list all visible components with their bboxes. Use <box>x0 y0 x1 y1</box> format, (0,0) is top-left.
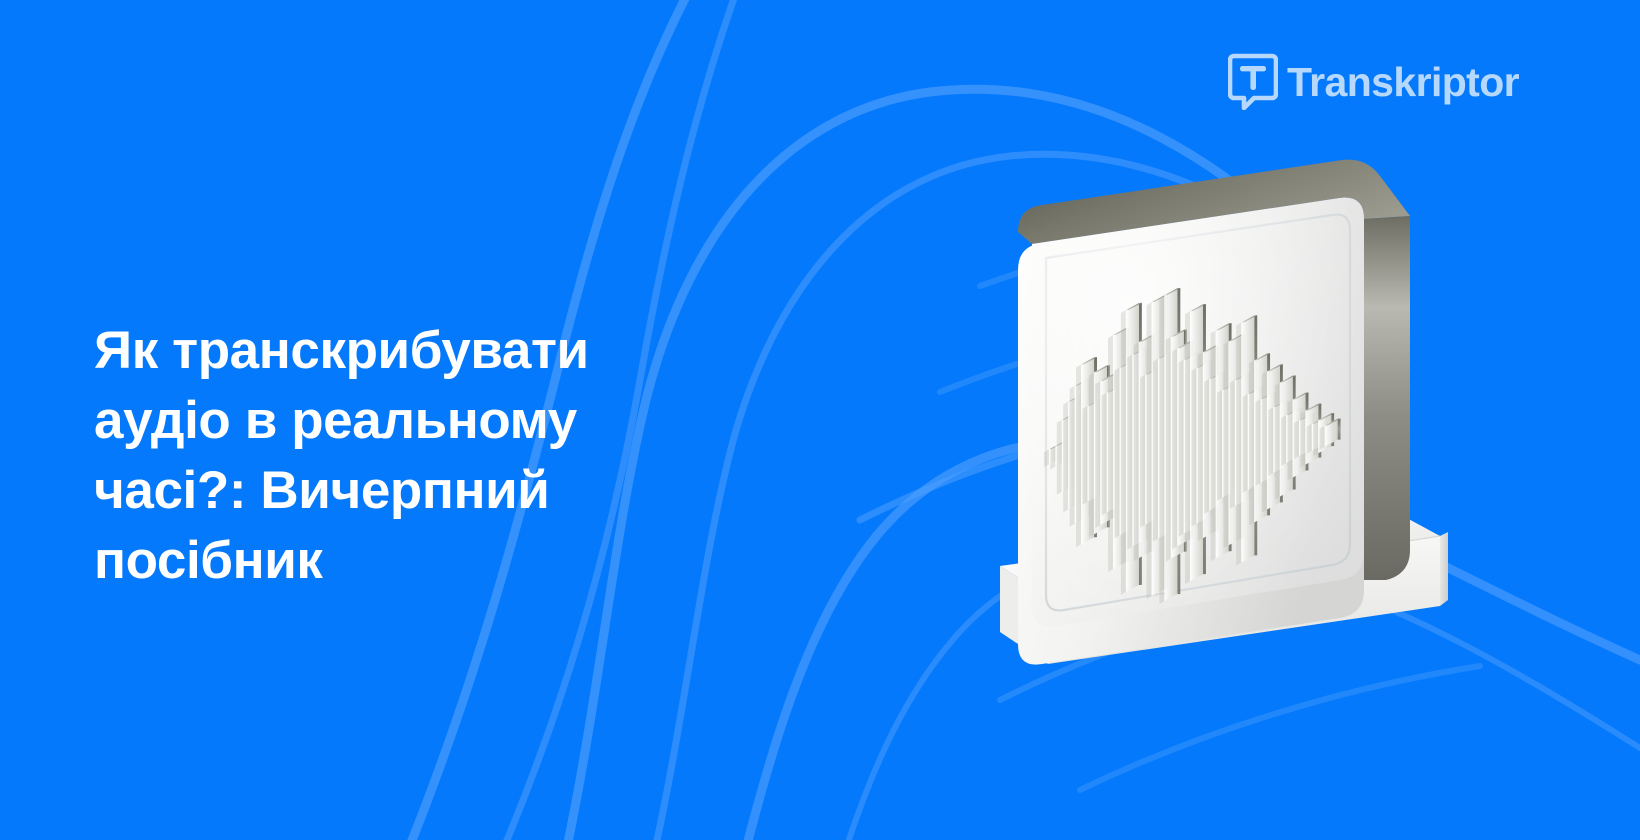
plaque <box>1018 160 1410 665</box>
transkriptor-logo[interactable]: Transkriptor <box>1228 52 1519 110</box>
banner-root: Transkriptor Як транскрибуватиаудіо в ре… <box>0 0 1640 840</box>
audio-waveform-illustration <box>940 140 1500 700</box>
page-title: Як транскрибуватиаудіо в реальномучасі?:… <box>94 316 734 596</box>
audio-waveform-svg <box>940 140 1500 700</box>
transkriptor-speech-bubble-t-icon <box>1228 52 1278 110</box>
logo-wordmark: Transkriptor <box>1287 62 1519 103</box>
